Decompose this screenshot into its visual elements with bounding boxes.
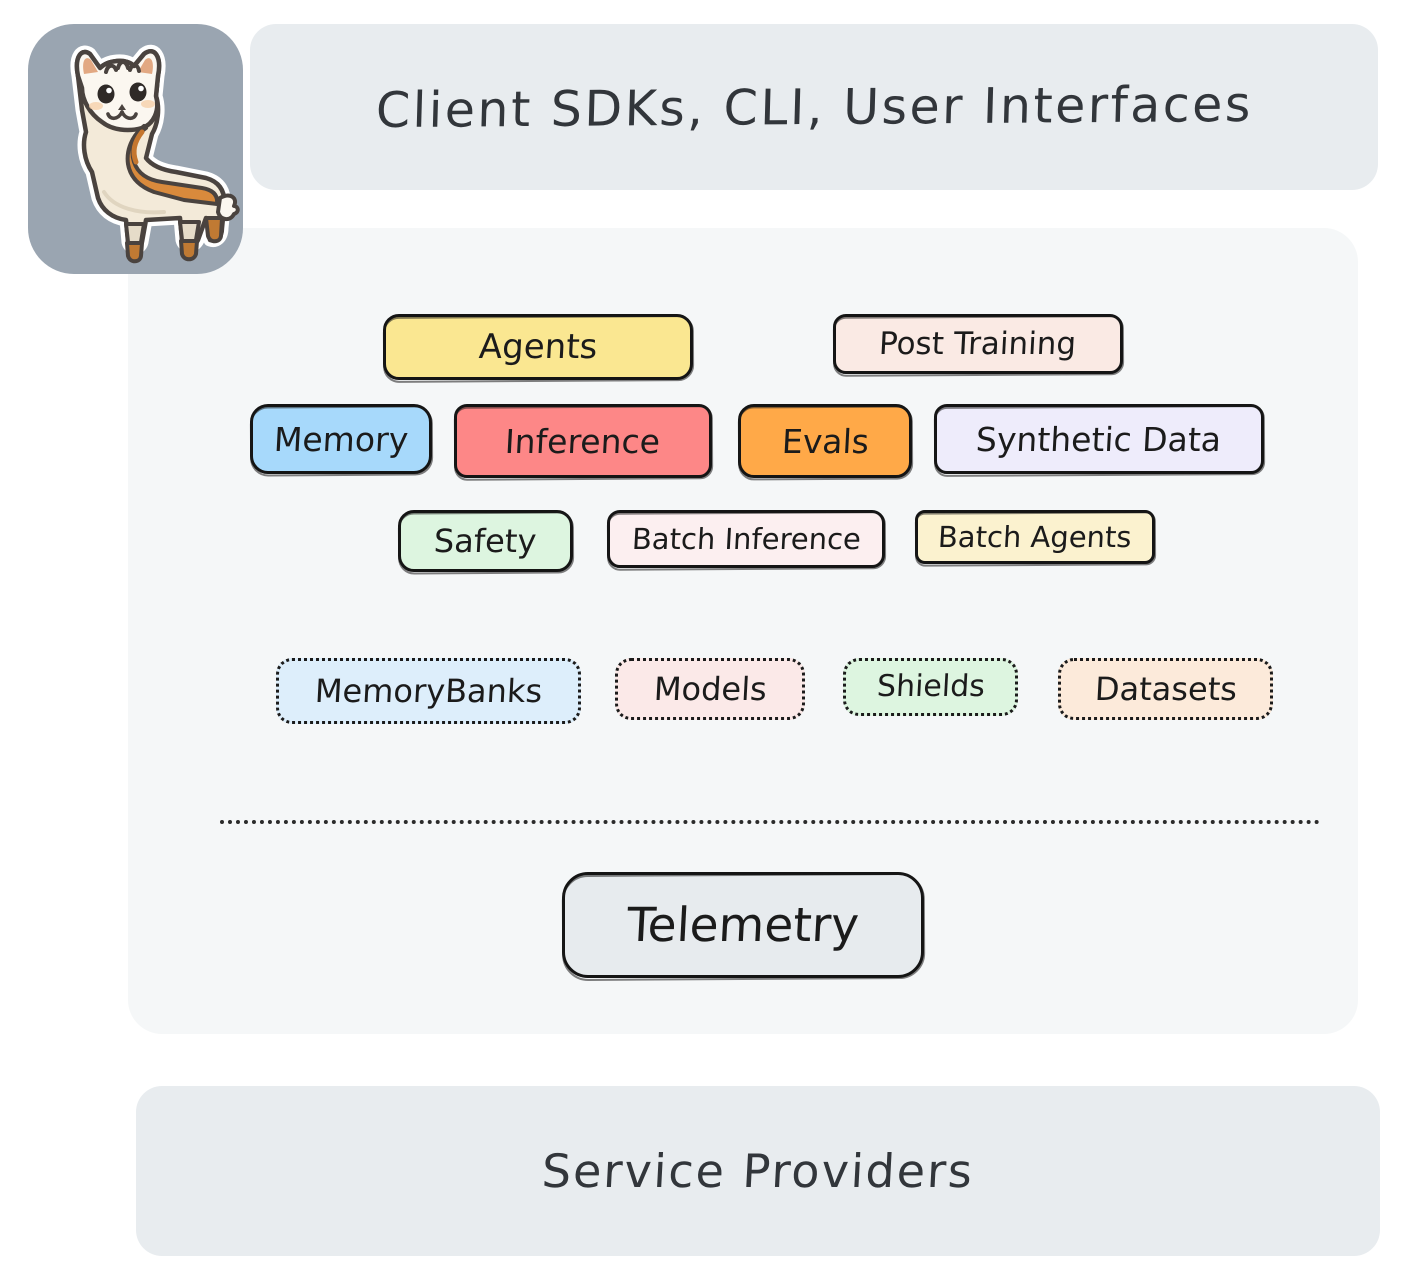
main-panel: AgentsPost Training MemoryInferenceEvals… (128, 228, 1358, 1034)
capability-box-memory[interactable]: Memory (250, 404, 432, 474)
capability-label: Batch Agents (937, 523, 1132, 552)
capability-box-inference[interactable]: Inference (454, 404, 712, 478)
resource-box-datasets[interactable]: Datasets (1058, 658, 1273, 720)
capability-box-safety[interactable]: Safety (398, 510, 573, 572)
capability-box-agents[interactable]: Agents (383, 314, 693, 380)
header-banner: Client SDKs, CLI, User Interfaces (250, 24, 1378, 190)
resource-box-shields[interactable]: Shields (843, 658, 1018, 716)
capability-box-evals[interactable]: Evals (738, 404, 912, 478)
diagram-canvas: Client SDKs, CLI, User Interfaces (0, 0, 1410, 1268)
llama-icon (34, 32, 249, 277)
resource-box-models[interactable]: Models (615, 658, 805, 720)
capability-box-batch-inference[interactable]: Batch Inference (607, 510, 885, 568)
agents-row: AgentsPost Training (128, 314, 1358, 380)
capability-label: Agents (478, 330, 598, 364)
capability-label: Synthetic Data (976, 423, 1223, 456)
footer-title: Service Providers (541, 1144, 976, 1198)
capability-label: Post Training (879, 329, 1078, 360)
batch-row: SafetyBatch InferenceBatch Agents (128, 510, 1358, 572)
capability-box-synthetic-data[interactable]: Synthetic Data (934, 404, 1264, 474)
capability-box-batch-agents[interactable]: Batch Agents (915, 510, 1155, 564)
telemetry-box[interactable]: Telemetry (562, 872, 924, 978)
capability-label: Safety (433, 525, 537, 557)
llama-logo-tile (28, 24, 243, 274)
capability-label: Memory (273, 423, 409, 456)
resource-label: MemoryBanks (314, 675, 543, 707)
telemetry-label: Telemetry (626, 902, 860, 949)
core-apis-row: MemoryInferenceEvalsSynthetic Data (128, 404, 1358, 478)
capability-label: Evals (781, 425, 870, 458)
resources-row: MemoryBanksModelsShieldsDatasets (128, 658, 1358, 724)
footer-banner: Service Providers (136, 1086, 1380, 1256)
capability-label: Batch Inference (631, 525, 861, 554)
capability-box-post-training[interactable]: Post Training (833, 314, 1123, 374)
capability-label: Inference (505, 425, 662, 458)
resource-label: Datasets (1094, 673, 1238, 705)
telemetry-wrap: Telemetry (128, 872, 1358, 978)
section-divider (220, 820, 1320, 824)
resource-label: Shields (876, 672, 985, 702)
resource-label: Models (653, 673, 767, 705)
resource-box-memorybanks[interactable]: MemoryBanks (276, 658, 581, 724)
header-title: Client SDKs, CLI, User Interfaces (375, 75, 1254, 138)
